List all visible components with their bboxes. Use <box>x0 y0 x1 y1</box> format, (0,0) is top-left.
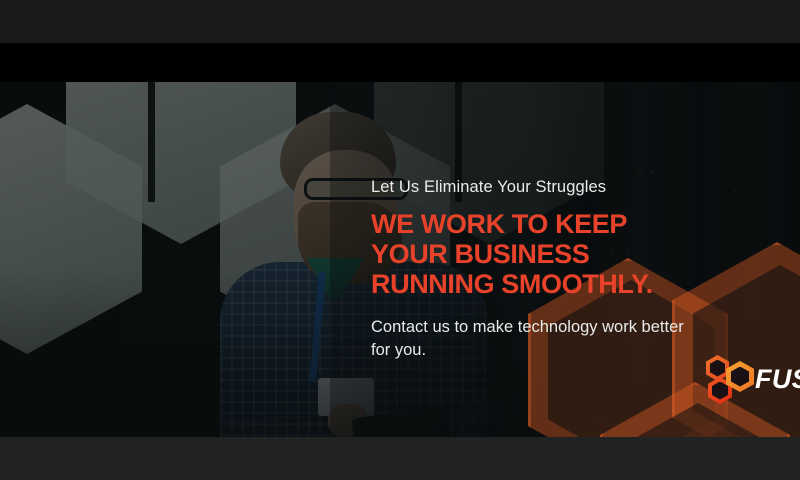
hero-banner: Let Us Eliminate Your Struggles WE WORK … <box>0 0 800 480</box>
bottom-frame-band <box>0 437 800 480</box>
fuse-logo[interactable]: FUSE <box>706 348 800 410</box>
hexagon-icon-top-left-hole <box>710 360 725 377</box>
marketing-copy-block: Let Us Eliminate Your Struggles WE WORK … <box>371 176 701 362</box>
logo-wordmark: FUSE <box>755 364 800 395</box>
eyebrow-text: Let Us Eliminate Your Struggles <box>371 176 701 198</box>
hexagon-cluster-icon <box>706 353 752 405</box>
hexagon-icon-bottom-left-hole <box>712 382 728 400</box>
top-black-band <box>0 43 800 82</box>
headline-text: WE WORK TO KEEP YOUR BUSINESS RUNNING SM… <box>371 209 701 299</box>
subcopy-text: Contact us to make technology work bette… <box>371 316 701 362</box>
top-frame-band <box>0 0 800 43</box>
hexagon-icon-top-left <box>706 355 729 381</box>
hexagon-icon-right-hole <box>731 367 749 387</box>
